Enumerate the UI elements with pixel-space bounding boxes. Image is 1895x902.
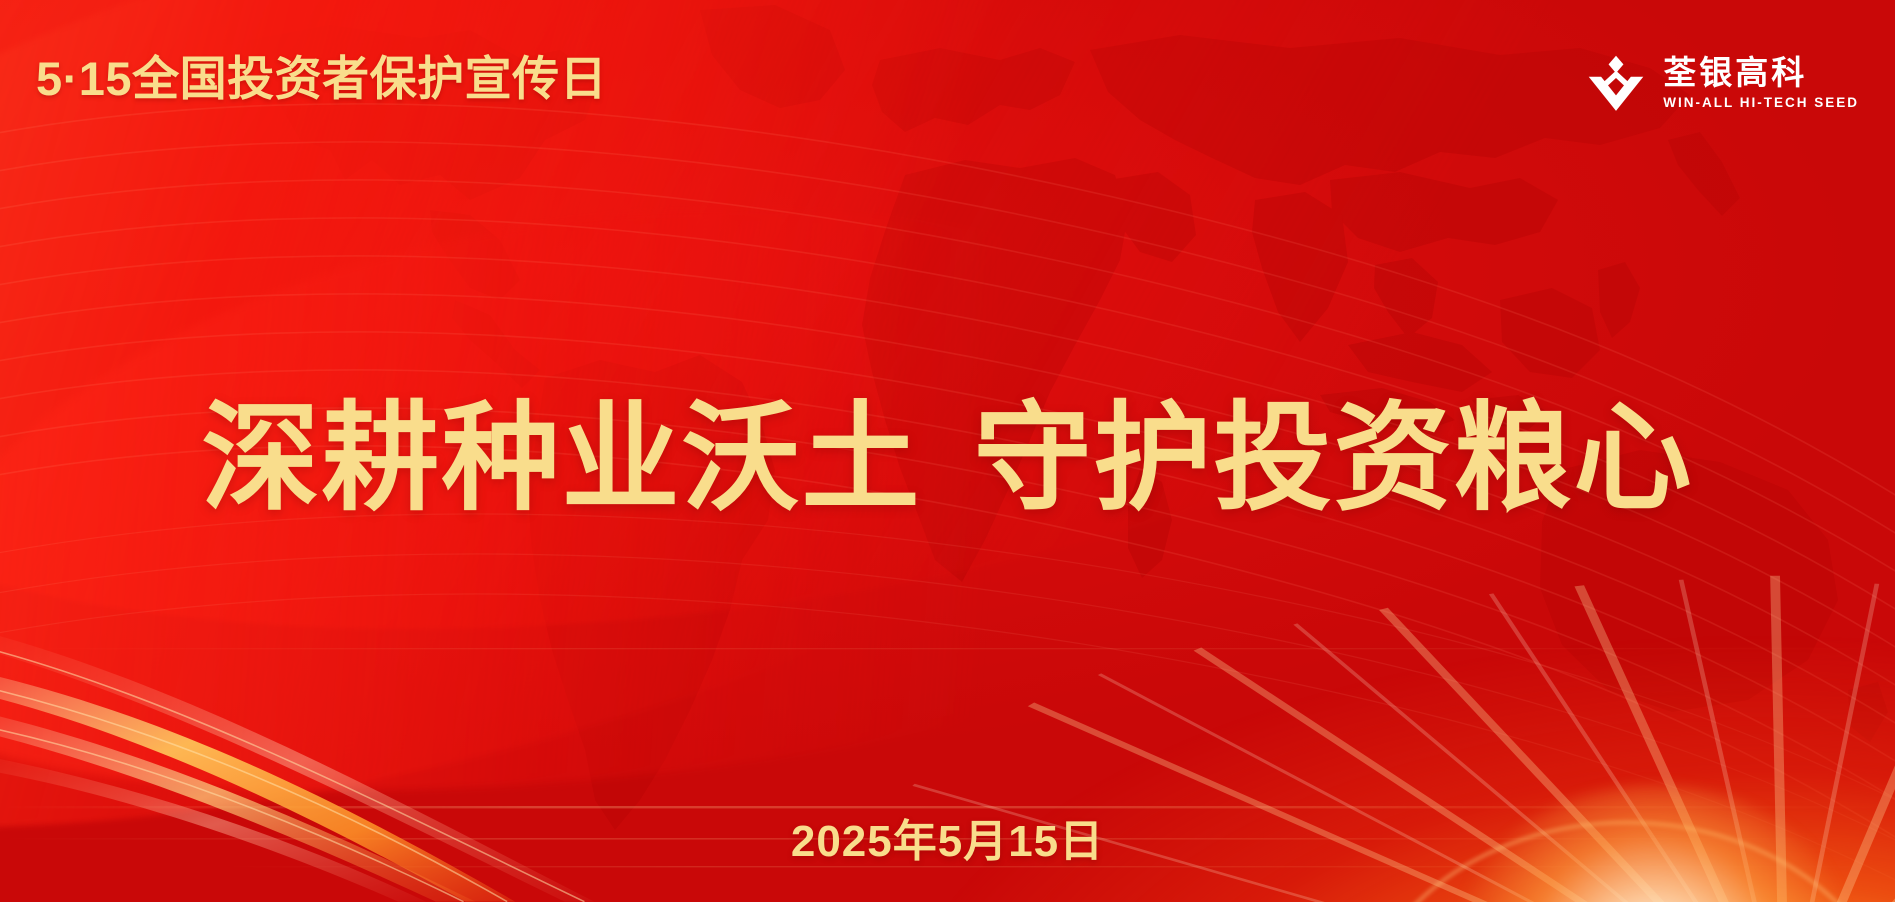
banner-content: 5·15全国投资者保护宣传日 荃银高科 WIN-ALL HI-TECH SEED… [0,0,1895,902]
event-date: 2025年5月15日 [0,805,1895,869]
logo-name-en: WIN-ALL HI-TECH SEED [1663,95,1859,111]
company-logo: 荃银高科 WIN-ALL HI-TECH SEED [1585,52,1859,114]
headline-part-1: 深耕种业沃土 [201,393,921,525]
headline-part-2: 守护投资粮心 [974,393,1694,525]
logo-wordmark: 荃银高科 WIN-ALL HI-TECH SEED [1663,55,1859,110]
logo-name-cn: 荃银高科 [1663,55,1807,91]
main-headline: 深耕种业沃土守护投资粮心 [0,398,1895,522]
investor-protection-banner: 5·15全国投资者保护宣传日 荃银高科 WIN-ALL HI-TECH SEED… [0,0,1895,902]
event-day-title: 5·15全国投资者保护宣传日 [36,52,607,106]
win-all-chevron-logo-icon [1585,52,1647,114]
